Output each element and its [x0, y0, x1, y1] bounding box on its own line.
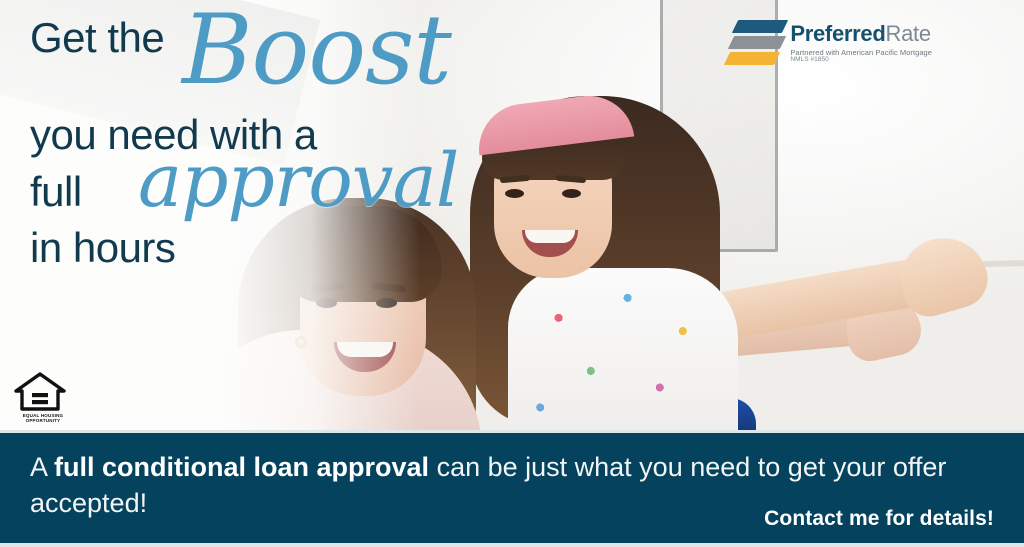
- logo-word-rate: Rate: [885, 21, 930, 46]
- preferred-rate-mark-icon: [727, 18, 783, 68]
- contact-cta[interactable]: Contact me for details!: [764, 507, 994, 531]
- headline-block: Get the Boost you need with a full appro…: [30, 16, 500, 272]
- logo-nmls-number: NMLS #1850: [790, 57, 932, 64]
- girl-eye-left: [505, 189, 524, 198]
- headline-full: full: [30, 168, 82, 215]
- headline-line-3: full approval: [30, 166, 500, 218]
- headline-boost-script: Boost: [182, 2, 451, 98]
- logo-tagline: Partnered with American Pacific Mortgage: [790, 49, 932, 57]
- headline-approval-script: approval: [138, 144, 458, 218]
- marketing-banner: Get the Boost you need with a full appro…: [0, 0, 1024, 547]
- footer-text-before: A: [30, 452, 54, 482]
- preferred-rate-logo[interactable]: PreferredRate Partnered with American Pa…: [727, 18, 932, 68]
- equal-housing-label: EQUAL HOUSING OPPORTUNITY: [14, 413, 72, 423]
- headline-in-hours: in hours: [30, 224, 175, 271]
- logo-bar-gray: [728, 36, 786, 49]
- footer-text-bold: full conditional loan approval: [54, 452, 429, 482]
- headline-get-the: Get the: [30, 14, 164, 61]
- equal-housing-icon: [14, 372, 66, 412]
- girl-eye-right: [562, 189, 581, 198]
- headline-line-4: in hours: [30, 224, 500, 272]
- footer-bar: A full conditional loan approval can be …: [0, 430, 1024, 547]
- girl-teeth: [525, 230, 575, 243]
- logo-bar-yellow: [724, 52, 780, 65]
- equal-housing-opportunity-logo: EQUAL HOUSING OPPORTUNITY: [14, 372, 72, 423]
- logo-text-block: PreferredRate Partnered with American Pa…: [790, 23, 932, 64]
- logo-word-preferred: Preferred: [790, 21, 885, 46]
- headline-line-1: Get the Boost: [30, 16, 500, 60]
- logo-bar-navy: [732, 20, 788, 33]
- logo-wordmark: PreferredRate: [790, 23, 932, 45]
- girl-floral-top: [508, 268, 738, 430]
